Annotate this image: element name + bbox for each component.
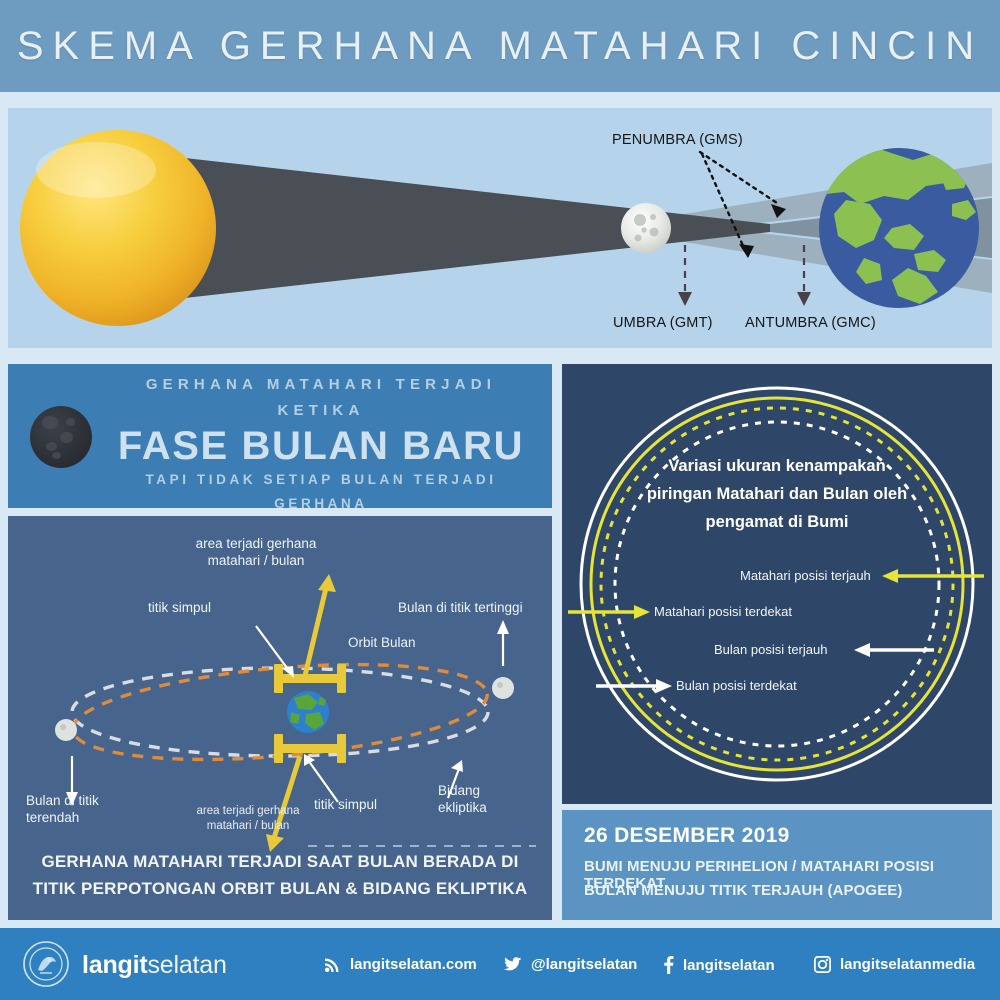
- fase-line-3: TAPI TIDAK SETIAP BULAN TERJADI GERHANA: [100, 468, 542, 516]
- moon-lowest-crater: [60, 724, 66, 730]
- moon-highest-crater: [497, 682, 503, 688]
- label-moon-highest: Bulan di titik tertinggi: [398, 599, 523, 616]
- umbra-arrowhead: [678, 292, 692, 306]
- infographic-page: SKEMA GERHANA MATAHARI CINCIN: [0, 0, 1000, 1000]
- label-sun-farthest: Matahari posisi terjauh: [740, 568, 871, 583]
- label-eclipse-area-top-l1: area terjadi gerhana: [176, 535, 336, 552]
- brand-light: selatan: [147, 951, 226, 979]
- new-moon-icon: [30, 406, 92, 468]
- social-twitter[interactable]: @langitselatan: [504, 956, 637, 973]
- social-facebook-label: langitselatan: [683, 957, 775, 974]
- label-moon-nearest: Bulan posisi terdekat: [676, 678, 797, 693]
- label-eclipse-area-bottom: area terjadi gerhana matahari / bulan: [184, 804, 312, 834]
- label-node-top: titik simpul: [148, 599, 211, 616]
- label-eclipse-area-bottom-l2: matahari / bulan: [184, 819, 312, 834]
- twitter-icon: [504, 956, 522, 973]
- fase-line-2: FASE BULAN BARU: [100, 424, 542, 468]
- label-eclipse-area-top: area terjadi gerhana matahari / bulan: [176, 535, 336, 569]
- ring-arrowhead-sun-farthest: [882, 569, 898, 583]
- social-website[interactable]: langitselatan.com: [324, 956, 477, 973]
- label-node-bottom: titik simpul: [314, 796, 377, 813]
- sun-highlight: [36, 142, 156, 198]
- ring-moon-nearest: [581, 388, 973, 780]
- ring-arrowhead-moon-farthest: [854, 643, 870, 657]
- pointer-arrowhead-moon-high: [497, 620, 509, 634]
- apparent-size-svg: [562, 364, 992, 804]
- label-ecliptic-plane-l1: Bidang: [438, 782, 487, 799]
- page-title: SKEMA GERHANA MATAHARI CINCIN: [0, 0, 1000, 92]
- facebook-icon: [663, 956, 674, 974]
- label-orbit-moon: Orbit Bulan: [348, 634, 416, 651]
- moon-highest-point: [492, 677, 514, 699]
- label-sun-nearest: Matahari posisi terdekat: [654, 604, 792, 619]
- footer-bar: langitselatan langitselatan.com @langits…: [0, 928, 1000, 1000]
- label-ecliptic-plane: Bidang ekliptika: [438, 782, 487, 816]
- social-facebook[interactable]: langitselatan: [663, 956, 775, 974]
- ring-arrowhead-sun-nearest: [634, 605, 650, 619]
- social-twitter-label: @langitselatan: [531, 956, 637, 973]
- label-antumbra: ANTUMBRA (GMC): [745, 315, 876, 331]
- social-instagram-label: langitselatanmedia: [840, 956, 975, 973]
- brand-bold: langit: [82, 951, 147, 979]
- label-eclipse-area-top-l2: matahari / bulan: [176, 552, 336, 569]
- ring-panel-title: Variasi ukuran kenampakan piringan Matah…: [612, 452, 942, 536]
- event-date-panel: 26 DESEMBER 2019 BUMI MENUJU PERIHELION …: [562, 810, 992, 920]
- orbit-footer-text: GERHANA MATAHARI TERJADI SAAT BULAN BERA…: [8, 848, 552, 902]
- moon-lowest-point: [55, 719, 77, 741]
- antumbra-arrowhead: [797, 292, 811, 306]
- header-bar: SKEMA GERHANA MATAHARI CINCIN: [0, 0, 1000, 92]
- social-instagram[interactable]: langitselatanmedia: [814, 956, 975, 973]
- event-date: 26 DESEMBER 2019: [584, 824, 790, 848]
- label-umbra: UMBRA (GMT): [613, 315, 713, 331]
- label-moon-farthest: Bulan posisi terjauh: [714, 642, 827, 657]
- social-website-label: langitselatan.com: [350, 956, 477, 973]
- new-moon-phase-panel: GERHANA MATAHARI TERJADI KETIKA FASE BUL…: [8, 364, 552, 508]
- ring-title-line-1: Variasi ukuran kenampakan: [612, 452, 942, 480]
- fase-line-1: GERHANA MATAHARI TERJADI KETIKA: [100, 372, 542, 424]
- event-detail-line-2: BULAN MENUJU TITIK TERJAUH (APOGEE): [584, 882, 903, 899]
- eclipse-geometry-diagram: PENUMBRA (GMS) UMBRA (GMT) ANTUMBRA (GMC…: [8, 108, 992, 348]
- ring-title-line-3: pengamat di Bumi: [612, 508, 942, 536]
- eclipse-area-arrowhead-top: [318, 574, 336, 592]
- moon-orbit-panel: area terjadi gerhana matahari / bulan ti…: [8, 516, 552, 920]
- eclipse-diagram-svg: [8, 108, 992, 348]
- rss-icon: [324, 956, 341, 973]
- moon-sphere: [621, 203, 671, 253]
- label-eclipse-area-bottom-l1: area terjadi gerhana: [184, 804, 312, 819]
- langitselatan-seal-logo: [22, 940, 70, 988]
- label-ecliptic-plane-l2: ekliptika: [438, 799, 487, 816]
- label-penumbra: PENUMBRA (GMS): [612, 132, 743, 148]
- orbit-footer-line-1: GERHANA MATAHARI TERJADI SAAT BULAN BERA…: [8, 848, 552, 875]
- pointer-arrowhead-ecliptic: [451, 760, 463, 772]
- brand-wordmark: langitselatan: [82, 951, 227, 980]
- apparent-size-panel: Variasi ukuran kenampakan piringan Matah…: [562, 364, 992, 804]
- orbit-footer-line-2: TITIK PERPOTONGAN ORBIT BULAN & BIDANG E…: [8, 875, 552, 902]
- label-moon-lowest-l2: terendah: [26, 809, 99, 826]
- instagram-icon: [814, 956, 831, 973]
- label-moon-lowest: Bulan di titik terendah: [26, 792, 99, 826]
- label-moon-lowest-l1: Bulan di titik: [26, 792, 99, 809]
- ring-arrowhead-moon-nearest: [656, 679, 672, 693]
- ring-title-line-2: piringan Matahari dan Bulan oleh: [612, 480, 942, 508]
